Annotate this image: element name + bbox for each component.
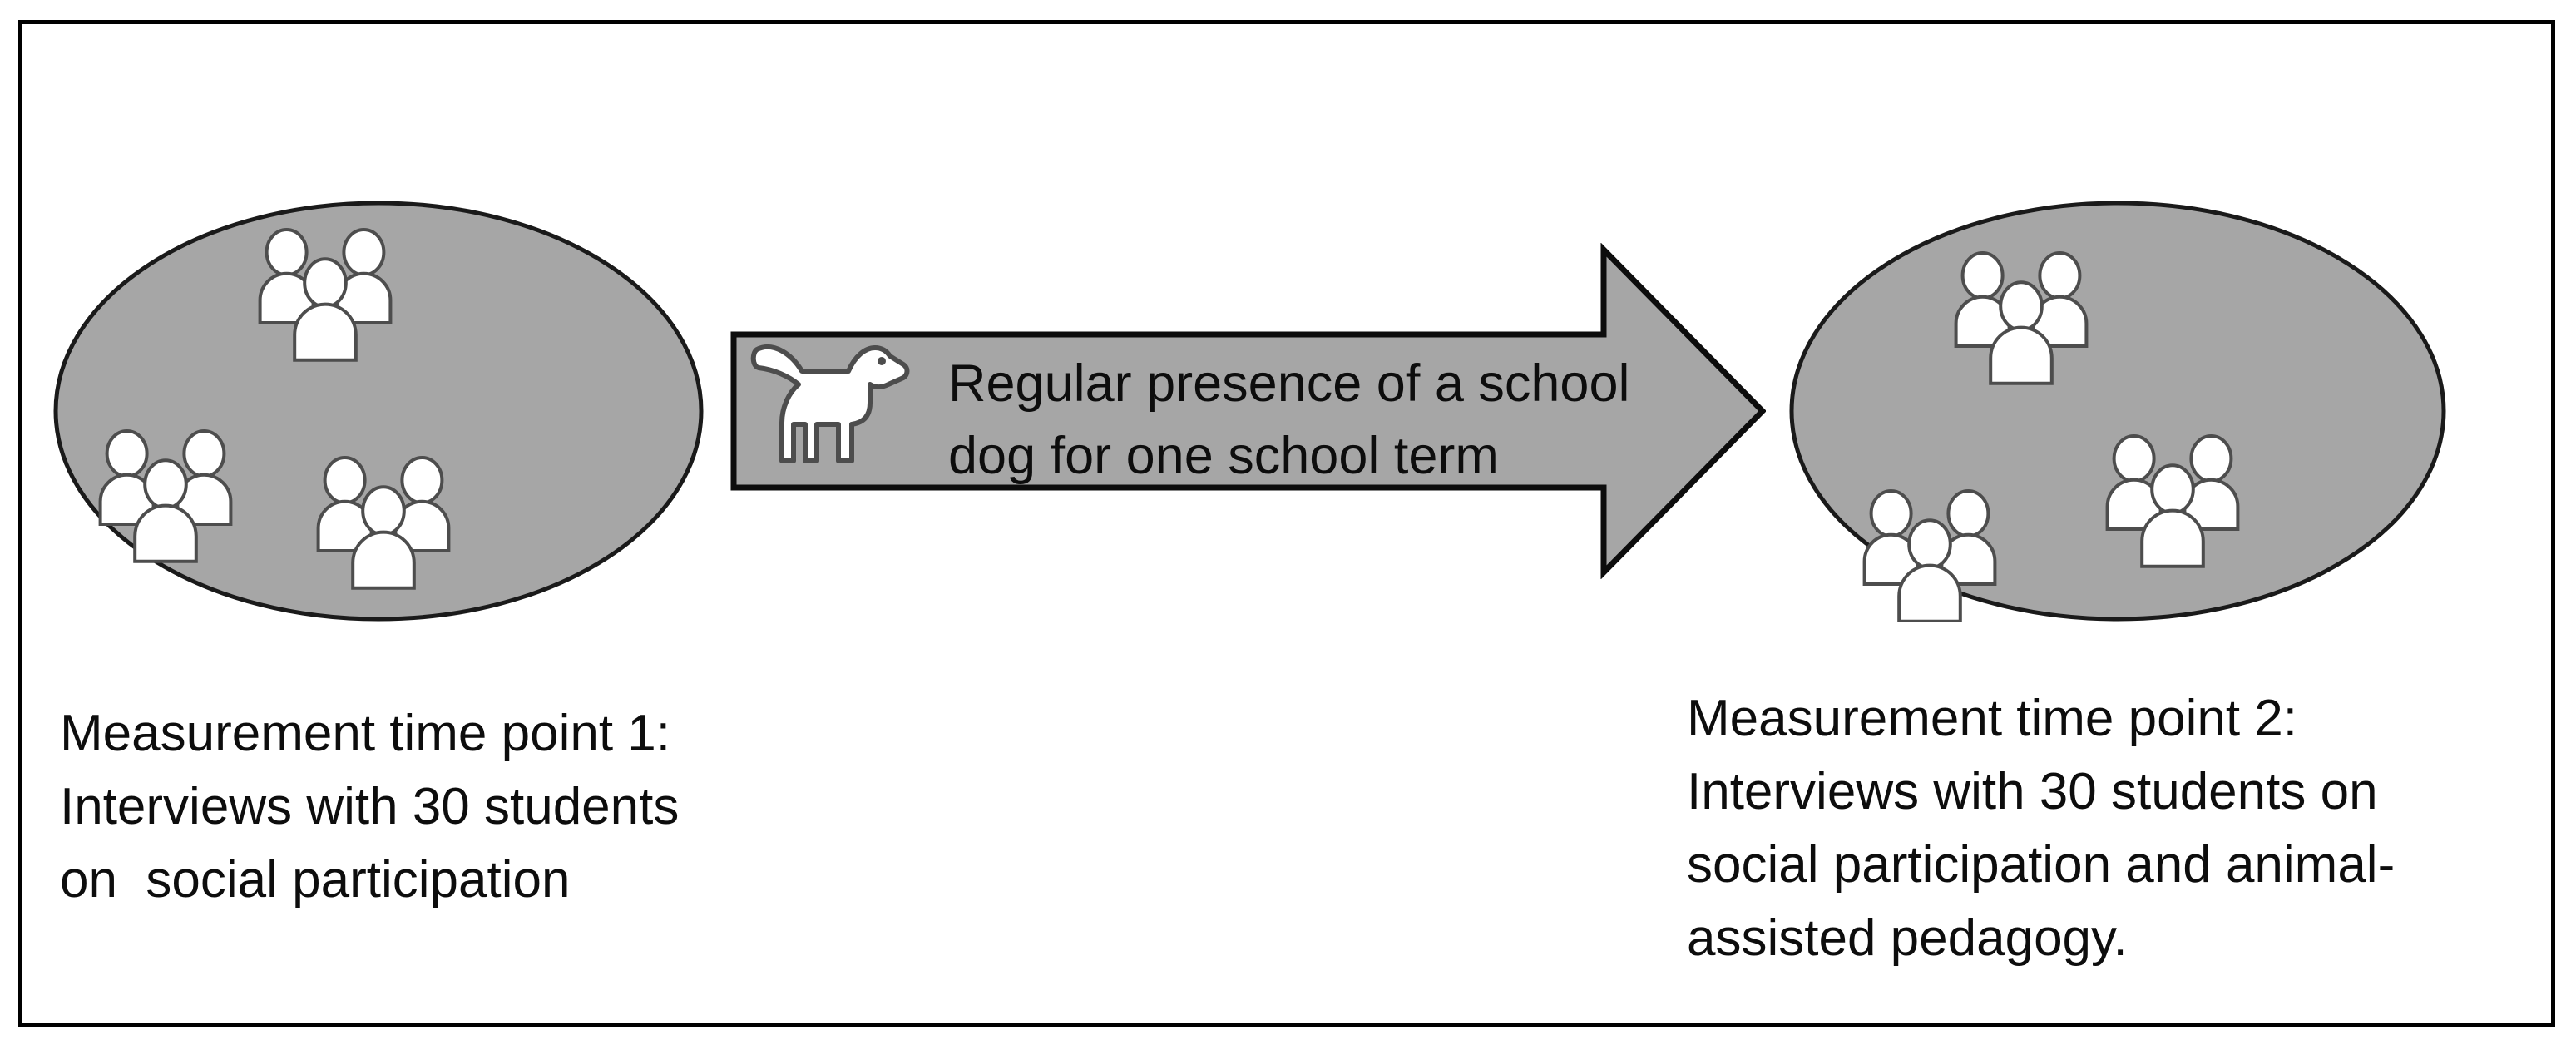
arrow-label-line-2: dog for one school term [948,420,1672,493]
left-caption-line-2: Interviews with 30 students [60,770,808,844]
right-caption: Measurement time point 2: Interviews wit… [1687,682,2519,975]
figure-root: Regular presence of a school dog for one… [0,0,2576,1050]
left-caption-line-3: on social participation [60,844,808,917]
right-caption-line-2: Interviews with 30 students on [1687,755,2519,829]
dog-icon [749,336,915,476]
arrow-label-line-1: Regular presence of a school [948,348,1672,420]
left-timepoint-ellipse [52,200,705,622]
right-caption-line-1: Measurement time point 2: [1687,682,2519,755]
right-caption-line-3: social participation and animal- [1687,829,2519,902]
left-caption: Measurement time point 1: Interviews wit… [60,697,808,917]
left-caption-line-1: Measurement time point 1: [60,697,808,770]
right-caption-line-4: assisted pedagogy. [1687,902,2519,975]
right-timepoint-ellipse [1788,200,2447,622]
arrow-label: Regular presence of a school dog for one… [948,348,1672,493]
